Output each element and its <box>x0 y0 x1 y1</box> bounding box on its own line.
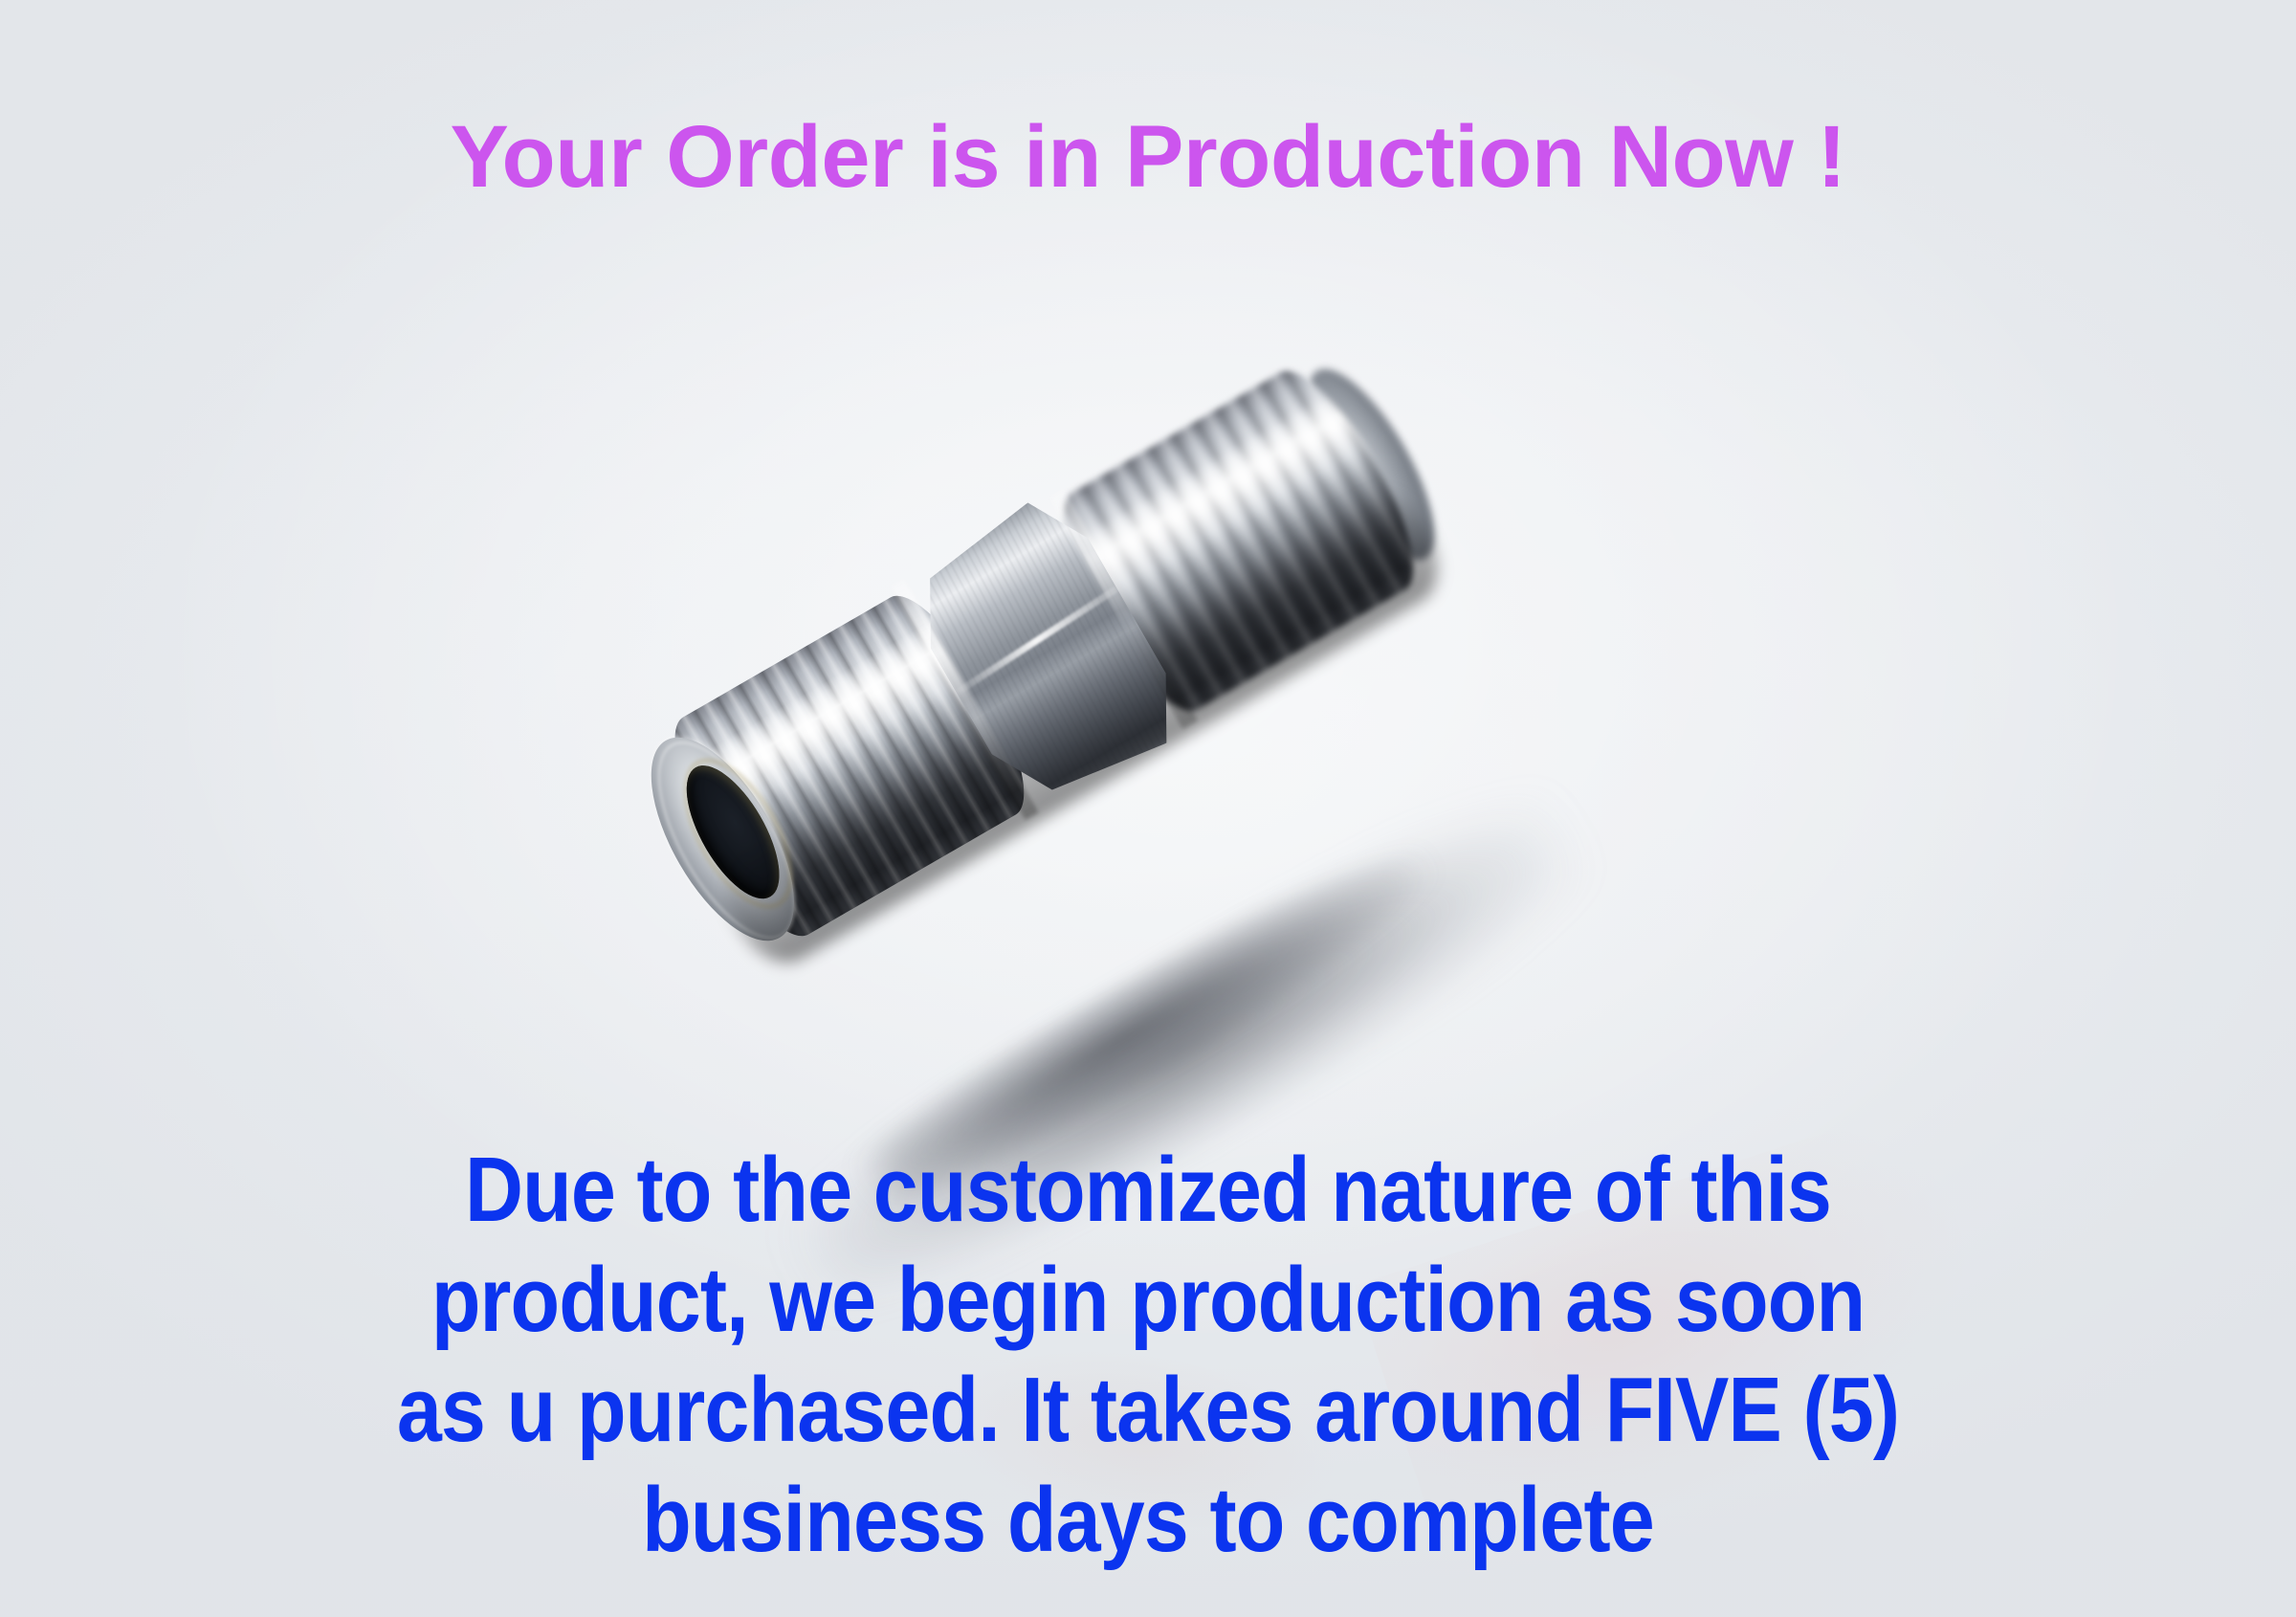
hex-right-shoulder <box>1049 489 1198 729</box>
product-photo <box>0 287 2296 1167</box>
near-end-face <box>623 716 823 963</box>
near-end-chamfer <box>630 720 823 960</box>
body-copy-line-4: business days to complete <box>138 1465 2158 1575</box>
body-copy-line-2: product, we begin production as soon <box>138 1245 2158 1355</box>
right-specular-band <box>1040 354 1439 729</box>
hex-left-shoulder <box>891 579 1039 820</box>
body-copy-line-3: as u purchased. It takes around FIVE (5) <box>138 1355 2158 1465</box>
headline-text: Your Order is in Production Now ! <box>0 113 2296 201</box>
hex-machining-grain <box>892 485 1196 821</box>
pipe-bore-opening <box>669 752 798 913</box>
left-thread-ridges <box>651 579 1049 954</box>
hex-nut-section <box>892 485 1196 821</box>
underside-shading <box>705 473 1455 978</box>
left-specular-band <box>651 579 1049 954</box>
body-copy-line-1: Due to the customized nature of this <box>138 1135 2158 1245</box>
right-threaded-section <box>1040 354 1439 729</box>
left-thread-highlights <box>651 579 1049 954</box>
body-copy-block: Due to the customized nature of this pro… <box>138 1135 2158 1575</box>
left-threaded-section <box>651 579 1049 954</box>
far-end-cap <box>1285 352 1458 577</box>
hex-pipe-nipple <box>651 354 1439 954</box>
bore-rim <box>662 742 815 926</box>
promotional-notice-image: Your Order is in Production Now ! <box>0 0 2296 1617</box>
right-thread-ridges <box>1040 354 1439 729</box>
right-thread-highlights <box>1040 354 1439 729</box>
hex-facet-edge-highlight <box>955 586 1119 696</box>
